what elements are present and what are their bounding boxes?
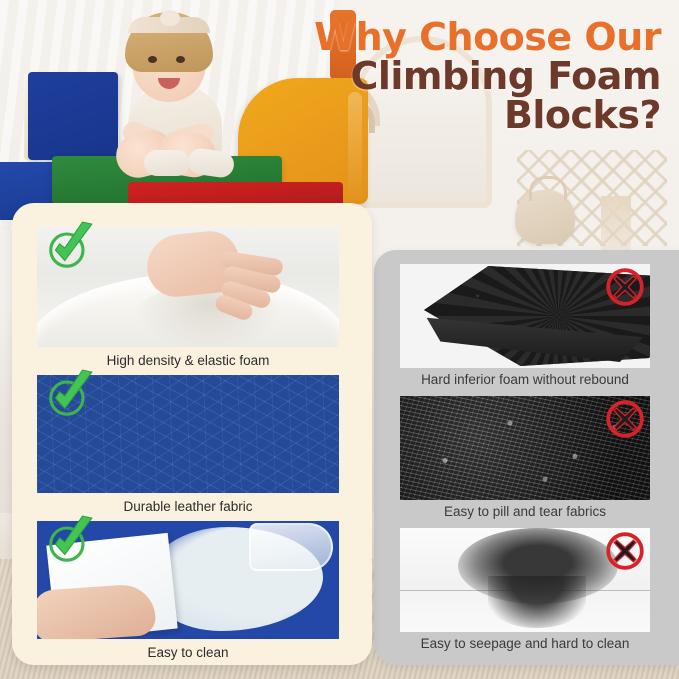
- pros-caption-3: Easy to clean: [37, 645, 339, 660]
- red-x-icon: [604, 530, 646, 572]
- tipped-glass-jar: [249, 523, 333, 571]
- hand-pressing-foam: [137, 233, 287, 321]
- cons-image-1: [400, 264, 650, 368]
- cons-caption-1: Hard inferior foam without rebound: [400, 372, 650, 387]
- pros-caption-1: High density & elastic foam: [37, 353, 339, 368]
- baby-sock-left: [144, 150, 190, 176]
- cons-caption-3: Easy to seepage and hard to clean: [400, 636, 650, 651]
- pros-item-3: Easy to clean: [37, 521, 339, 639]
- headline-line-2: Climbing Foam: [281, 57, 661, 96]
- cons-image-3: [400, 528, 650, 632]
- green-check-icon: [43, 515, 97, 567]
- hanging-bag: [515, 190, 575, 244]
- green-check-icon: [43, 369, 97, 421]
- headline-line-1: Why Choose Our: [281, 18, 661, 57]
- baby-figure: [92, 4, 272, 200]
- cons-image-2: [400, 396, 650, 500]
- headline-line-3: Blocks?: [281, 96, 661, 135]
- pros-panel: High density & elastic foam Durable leat…: [12, 203, 372, 665]
- baby-eye-right: [176, 56, 185, 63]
- cons-caption-2: Easy to pill and tear fabrics: [400, 504, 650, 519]
- cons-item-1: Hard inferior foam without rebound: [400, 264, 650, 368]
- pros-item-2: Durable leather fabric: [37, 375, 339, 493]
- cons-item-3: Easy to seepage and hard to clean: [400, 528, 650, 632]
- red-x-icon: [604, 398, 646, 440]
- pros-caption-2: Durable leather fabric: [37, 499, 339, 514]
- cons-panel: Hard inferior foam without rebound Easy …: [374, 250, 679, 665]
- baby-headband: [128, 17, 210, 33]
- baby-eye-left: [148, 56, 157, 63]
- seepage-stain-lower: [488, 576, 586, 628]
- red-x-icon: [604, 266, 646, 308]
- infographic-canvas: Why Choose Our Climbing Foam Blocks? Har…: [0, 0, 679, 679]
- hand-wiping: [37, 583, 157, 639]
- pros-item-1: High density & elastic foam: [37, 227, 339, 347]
- cons-item-2: Easy to pill and tear fabrics: [400, 396, 650, 500]
- green-check-icon: [43, 221, 97, 273]
- headline: Why Choose Our Climbing Foam Blocks?: [281, 18, 661, 135]
